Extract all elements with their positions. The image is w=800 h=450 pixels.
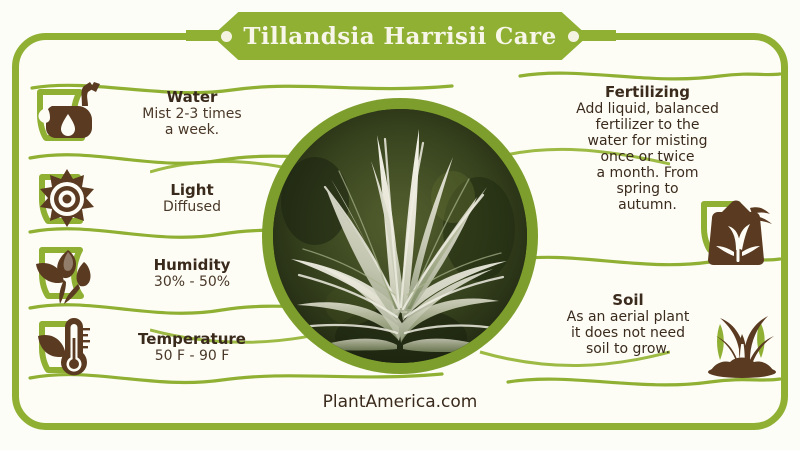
- tillandsia-photo-illustration: [273, 109, 527, 363]
- care-item-light-body: Diffused: [104, 200, 280, 216]
- infographic-canvas: Water Mist 2-3 times a week. Light Diffu…: [0, 0, 800, 450]
- banner-dot-left-icon: [221, 31, 232, 42]
- fertilizer-bag-icon: [694, 188, 786, 274]
- care-item-soil-body: As an aerial plant it does not need soil…: [540, 310, 716, 358]
- care-item-water-body: Mist 2-3 times a week.: [104, 107, 280, 138]
- banner-dot-right-icon: [568, 31, 579, 42]
- humidity-leaf-drop-icon: [30, 238, 104, 310]
- care-item-humidity: Humidity 30% - 50%: [30, 238, 280, 310]
- seedling-soil-icon: [698, 298, 784, 378]
- care-item-temperature-text: Temperature 50 F - 90 F: [104, 331, 280, 364]
- care-item-humidity-heading: Humidity: [104, 257, 280, 274]
- footer-site-name: PlantAmerica.com: [0, 392, 800, 412]
- care-item-light-text: Light Diffused: [104, 182, 280, 215]
- sun-icon: [30, 163, 104, 235]
- care-item-humidity-body: 30% - 50%: [104, 275, 280, 291]
- care-item-water-heading: Water: [104, 89, 280, 106]
- banner-plate: Tillandsia Harrisii Care: [212, 12, 588, 60]
- care-item-humidity-text: Humidity 30% - 50%: [104, 257, 280, 290]
- care-item-temperature-body: 50 F - 90 F: [104, 349, 280, 365]
- care-item-soil-text: Soil As an aerial plant it does not need…: [540, 292, 716, 358]
- care-item-light: Light Diffused: [30, 163, 280, 235]
- plant-photo: [273, 109, 527, 363]
- care-item-light-heading: Light: [104, 182, 280, 199]
- plant-photo-ring: [262, 98, 538, 374]
- care-item-water: Water Mist 2-3 times a week.: [30, 78, 280, 150]
- title-banner: Tillandsia Harrisii Care: [0, 6, 800, 64]
- care-item-temperature-heading: Temperature: [104, 331, 280, 348]
- care-item-water-text: Water Mist 2-3 times a week.: [104, 89, 280, 138]
- thermometer-icon: [30, 312, 104, 384]
- care-item-soil-heading: Soil: [540, 292, 716, 309]
- page-title: Tillandsia Harrisii Care: [243, 23, 556, 50]
- care-item-fertilizing-heading: Fertilizing: [540, 84, 755, 101]
- care-item-temperature: Temperature 50 F - 90 F: [30, 312, 280, 384]
- watering-can-icon: [30, 78, 104, 150]
